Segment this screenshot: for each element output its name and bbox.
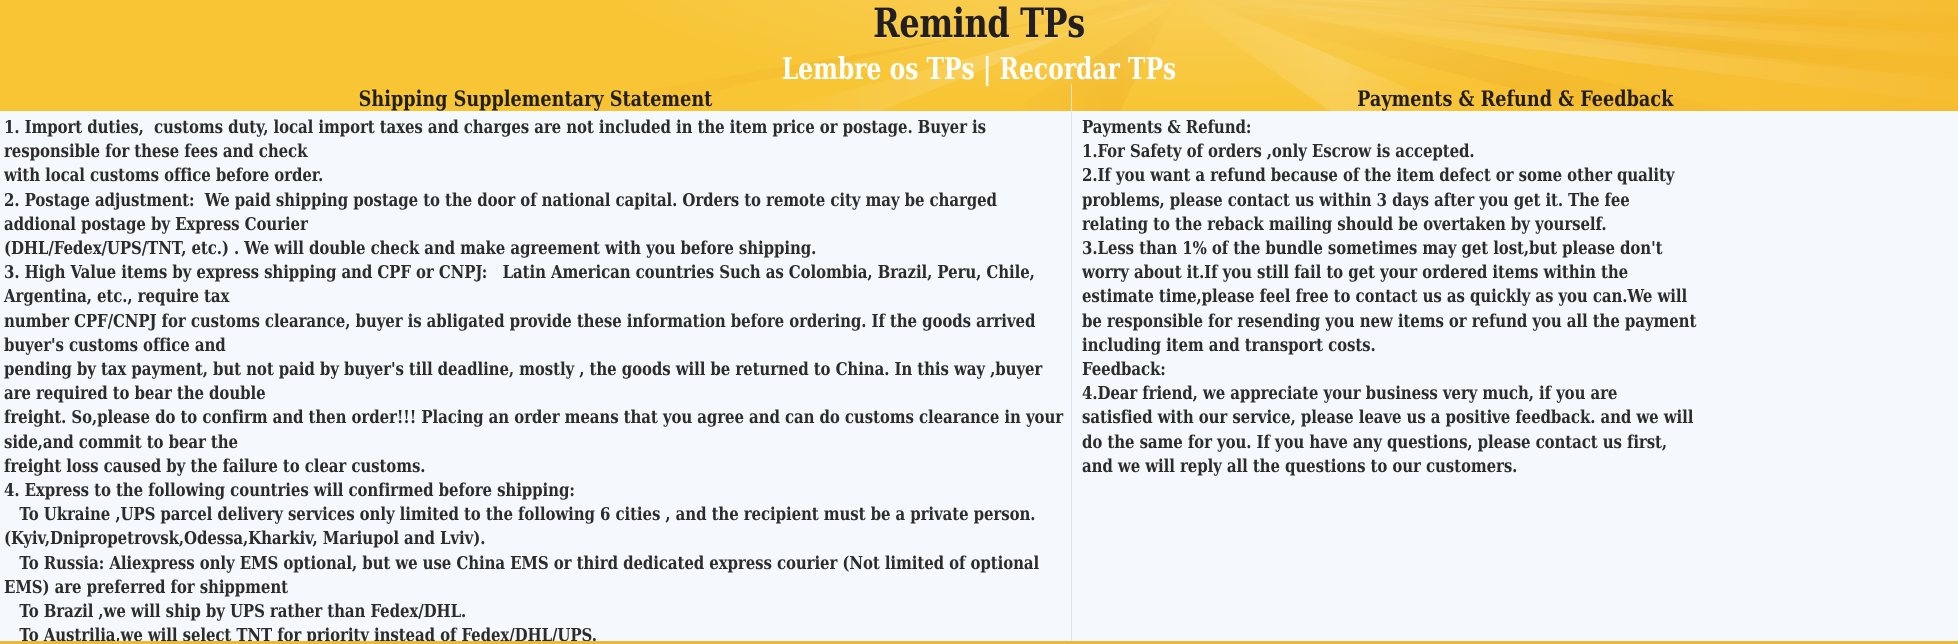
page-title: Remind TPs [196,1,1762,47]
text-line: with local customs office before order. [4,164,1068,188]
payments-refund-feedback-column: Payments & Refund:1.For Safety of orders… [1071,111,1958,641]
shipping-section-header-label: Shipping Supplementary Statement [359,87,713,110]
text-line: (Kyiv,Dnipropetrovsk,Odessa,Kharkiv, Mar… [4,527,1068,551]
text-line: 3. High Value items by express shipping … [4,261,1068,309]
text-line: problems, please contact us within 3 day… [1082,189,1950,213]
text-line: To Ukraine ,UPS parcel delivery services… [4,503,1068,527]
shipping-section-header: Shipping Supplementary Statement [0,84,1071,111]
payments-section-header-label: Payments & Refund & Feedback [1357,87,1673,110]
text-line: freight. So,please do to confirm and the… [4,406,1068,454]
shipping-statement-column: 1. Import duties, customs duty, local im… [0,111,1071,641]
text-line: To Russia: Aliexpress only EMS optional,… [4,552,1068,600]
text-line: 2. Postage adjustment: We paid shipping … [4,189,1068,237]
text-line: Payments & Refund: [1082,116,1950,140]
text-line: (DHL/Fedex/UPS/TNT, etc.) . We will doub… [4,237,1068,261]
text-line: and we will reply all the questions to o… [1082,455,1950,479]
text-line: be responsible for resending you new ite… [1082,310,1950,334]
text-line: estimate time,please feel free to contac… [1082,285,1950,309]
text-line: 4.Dear friend, we appreciate your busine… [1082,382,1950,406]
text-line: pending by tax payment, but not paid by … [4,358,1068,406]
text-line: relating to the reback mailing should be… [1082,213,1950,237]
text-line: number CPF/CNPJ for customs clearance, b… [4,310,1068,358]
text-line: worry about it.If you still fail to get … [1082,261,1950,285]
page-banner: Remind TPs Lembre os TPs | Recordar TPs … [0,0,1958,111]
column-headers-row: Shipping Supplementary Statement Payment… [0,84,1958,111]
text-line: 4. Express to the following countries wi… [4,479,1068,503]
text-line: 1.For Safety of orders ,only Escrow is a… [1082,140,1950,164]
payments-refund-feedback-text: Payments & Refund:1.For Safety of orders… [1082,116,1950,479]
text-line: To Austrilia,we will select TNT for prio… [4,624,1068,644]
content-columns: 1. Import duties, customs duty, local im… [0,111,1958,641]
text-line: freight loss caused by the failure to cl… [4,455,1068,479]
shipping-statement-text: 1. Import duties, customs duty, local im… [4,116,1068,644]
text-line: Feedback: [1082,358,1950,382]
text-line: do the same for you. If you have any que… [1082,431,1950,455]
text-line: 1. Import duties, customs duty, local im… [4,116,1068,164]
text-line: including item and transport costs. [1082,334,1950,358]
page-subtitle: Lembre os TPs | Recordar TPs [215,53,1742,87]
text-line: satisfied with our service, please leave… [1082,406,1950,430]
remind-tps-banner-page: Remind TPs Lembre os TPs | Recordar TPs … [0,0,1958,644]
text-line: 3.Less than 1% of the bundle sometimes m… [1082,237,1950,261]
text-line: 2.If you want a refund because of the it… [1082,164,1950,188]
payments-section-header: Payments & Refund & Feedback [1071,84,1958,111]
text-line: To Brazil ,we will ship by UPS rather th… [4,600,1068,624]
